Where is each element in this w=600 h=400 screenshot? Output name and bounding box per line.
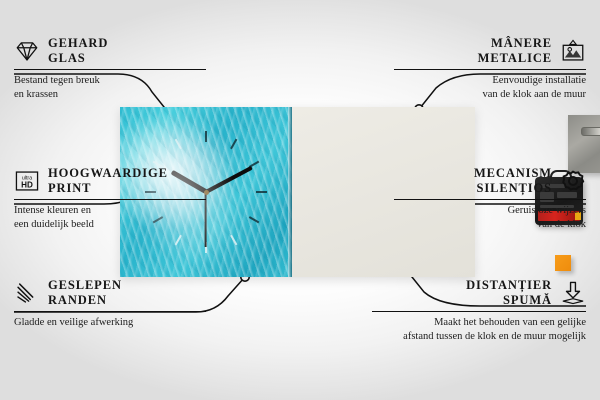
- infographic-canvas: GEHARD GLAS Bestand tegen breuk en krass…: [0, 0, 600, 400]
- ultra-hd-icon: ultra HD: [14, 168, 40, 194]
- feature-title: DISTANȚIER SPUMĂ: [466, 278, 552, 308]
- gear-icon: [560, 168, 586, 194]
- clock-minute-hand: [205, 166, 253, 194]
- feature-description: Gladde en veilige afwerking: [14, 316, 206, 330]
- feature-header: GEHARD GLAS: [14, 36, 206, 66]
- svg-text:HD: HD: [21, 180, 33, 189]
- feature-description: Geruisloze wijzers van de klok: [394, 204, 586, 231]
- arrow-down-layers-icon: [560, 280, 586, 306]
- feature-title: MÂNERE METALICE: [478, 36, 552, 66]
- feature-manere-metalice: MÂNERE METALICE Eenvoudige installatie v…: [394, 36, 586, 101]
- diamond-icon: [14, 38, 40, 64]
- feature-mecanism-silentios: MECANISM SILENȚIOS Geruisloze wijzers va…: [394, 166, 586, 231]
- hanger-slot: [581, 127, 600, 136]
- framed-picture-hook-icon: [560, 38, 586, 64]
- feature-title: GESLEPEN RANDEN: [48, 278, 122, 308]
- feature-header: DISTANȚIER SPUMĂ: [372, 278, 586, 308]
- feature-gehard-glas: GEHARD GLAS Bestand tegen breuk en krass…: [14, 36, 206, 101]
- bevelled-edges-icon: [14, 280, 40, 306]
- feature-title: GEHARD GLAS: [48, 36, 108, 66]
- feature-title: HOOGWAARDIGE PRINT: [48, 166, 168, 196]
- feature-rule: [394, 199, 586, 201]
- feature-rule: [14, 69, 206, 71]
- foam-spacer: [555, 255, 571, 271]
- feature-description: Eenvoudige installatie van de klok aan d…: [394, 74, 586, 101]
- feature-header: GESLEPEN RANDEN: [14, 278, 206, 308]
- metal-hanger-plate: [568, 115, 600, 173]
- feature-hoogwaardige-print: ultra HD HOOGWAARDIGE PRINT Intense kleu…: [14, 166, 206, 231]
- feature-header: ultra HD HOOGWAARDIGE PRINT: [14, 166, 206, 196]
- feature-description: Maakt het behouden van een gelijke afsta…: [372, 316, 586, 343]
- feature-rule: [372, 311, 586, 313]
- feature-description: Intense kleuren en een duidelijk beeld: [14, 204, 206, 231]
- feature-rule: [394, 69, 586, 71]
- feature-rule: [14, 199, 206, 201]
- feature-description: Bestand tegen breuk en krassen: [14, 74, 206, 101]
- feature-header: MÂNERE METALICE: [394, 36, 586, 66]
- feature-geslepen-randen: GESLEPEN RANDEN Gladde en veilige afwerk…: [14, 278, 206, 330]
- feature-distantier-spuma: DISTANȚIER SPUMĂ Maakt het behouden van …: [372, 278, 586, 343]
- feature-header: MECANISM SILENȚIOS: [394, 166, 586, 196]
- feature-title: MECANISM SILENȚIOS: [474, 166, 552, 196]
- feature-rule: [14, 311, 206, 313]
